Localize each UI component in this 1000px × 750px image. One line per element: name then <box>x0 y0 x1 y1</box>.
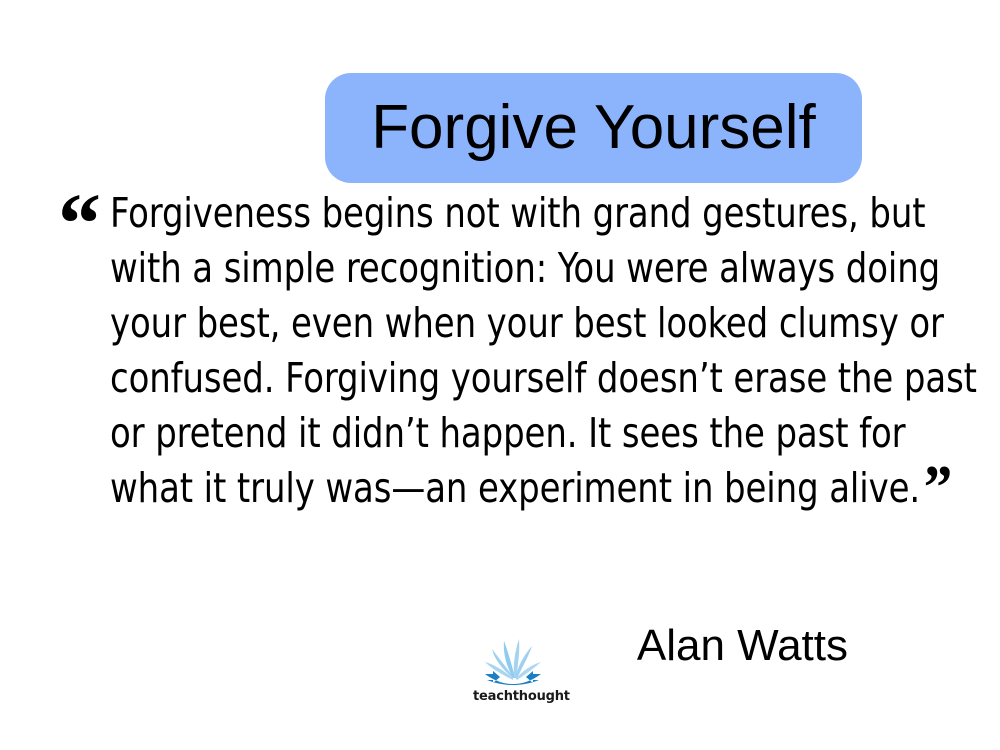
quote-author: Alan Watts <box>637 622 848 670</box>
quote-text-container: Forgiveness begins not with grand gestur… <box>110 186 993 516</box>
title-pill: Forgive Yourself <box>325 73 862 183</box>
page-title: Forgive Yourself <box>371 97 816 159</box>
quote-block: “ Forgiveness begins not with grand gest… <box>58 186 958 516</box>
closing-quote-icon: ” <box>924 454 952 522</box>
logo-wordmark: teachthought <box>473 689 553 704</box>
brand-logo: teachthought <box>473 634 553 712</box>
quote-slide: Forgive Yourself “ Forgiveness begins no… <box>0 0 1000 750</box>
quote-text: Forgiveness begins not with grand gestur… <box>110 189 977 512</box>
teachthought-logo-icon <box>473 634 553 688</box>
opening-quote-icon: “ <box>58 180 99 266</box>
